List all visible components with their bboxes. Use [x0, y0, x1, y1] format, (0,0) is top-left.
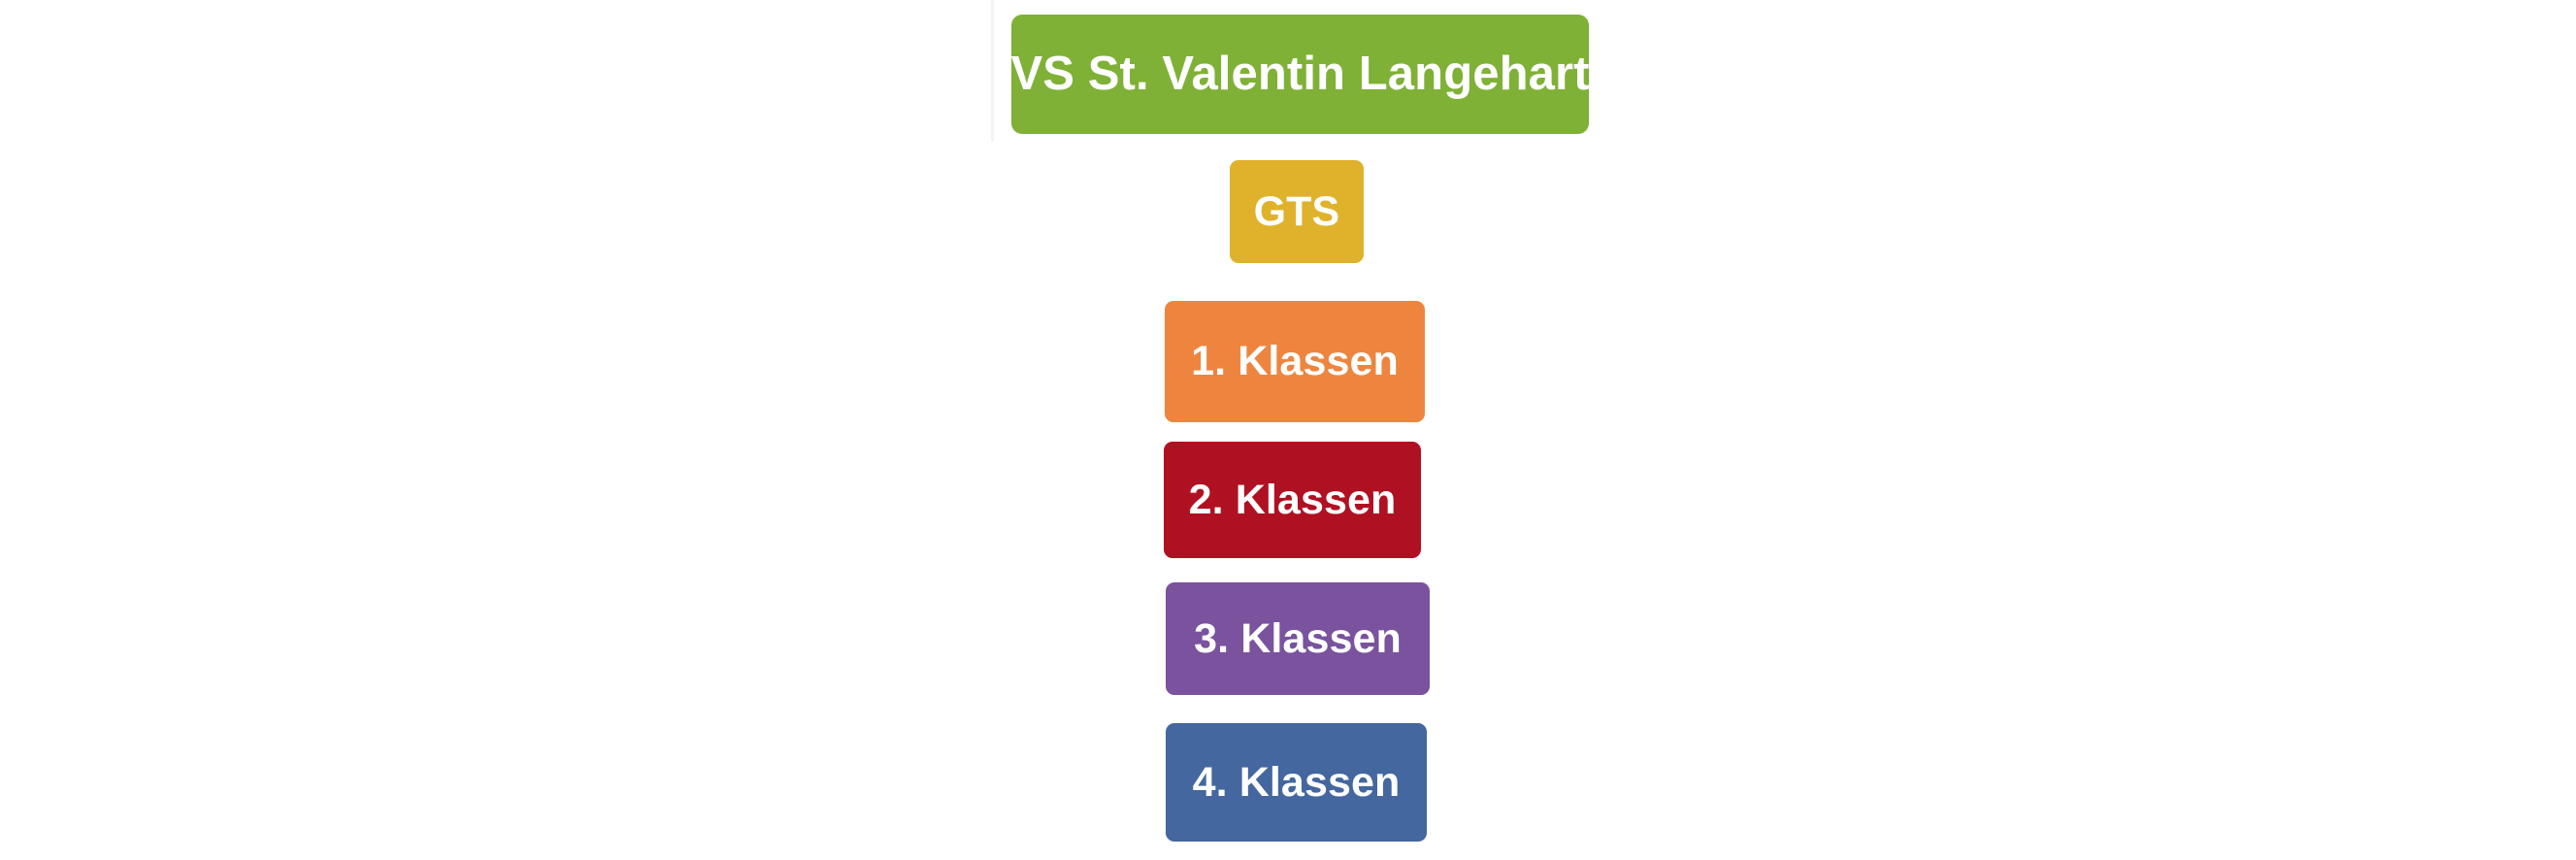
node-label-klasse-3: 3. Klassen [1192, 618, 1404, 660]
node-label-klasse-4: 4. Klassen [1191, 762, 1403, 804]
diagram-canvas: VS St. Valentin Langehart GTS 1. Klassen… [0, 0, 2576, 860]
node-klasse-1[interactable]: 1. Klassen [1165, 301, 1425, 422]
connector-line [991, 0, 994, 142]
node-label-klasse-2: 2. Klassen [1187, 480, 1399, 521]
node-klasse-4[interactable]: 4. Klassen [1166, 723, 1427, 842]
node-vs-st-valentin-langehart[interactable]: VS St. Valentin Langehart [1011, 15, 1589, 134]
node-klasse-3[interactable]: 3. Klassen [1166, 582, 1430, 695]
node-gts[interactable]: GTS [1230, 160, 1364, 263]
node-klasse-2[interactable]: 2. Klassen [1164, 442, 1421, 558]
node-label-klasse-1: 1. Klassen [1189, 341, 1401, 382]
node-label-gts: GTS [1252, 191, 1342, 233]
node-label-root: VS St. Valentin Langehart [1008, 50, 1591, 98]
